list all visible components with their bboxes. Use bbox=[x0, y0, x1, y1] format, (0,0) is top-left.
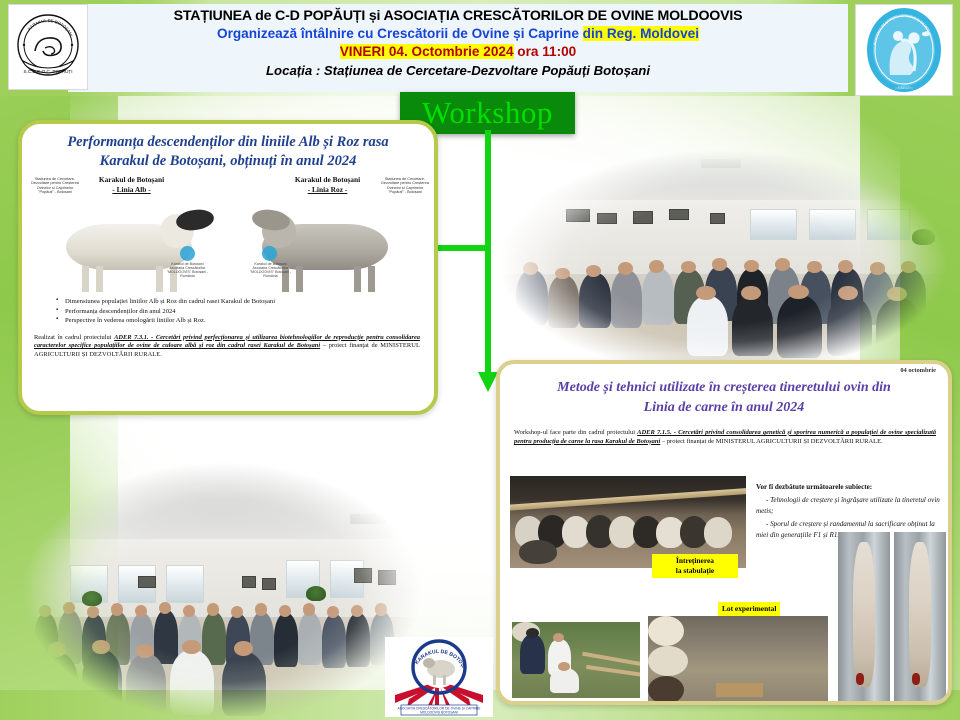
sheep-caption-roz: Karakul de Botoșani - Linia Roz - bbox=[240, 175, 415, 194]
slide-left-title: Performanța descendenților din liniile A… bbox=[22, 133, 434, 171]
scdcoc-popauti-logo: S.C.D.C.O.C. POPĂUȚI KARAKUL DE BOTOȘANI bbox=[8, 4, 88, 90]
lamb-handling-scene bbox=[512, 622, 640, 698]
slide-left-footer: Realizat în cadrul proiectului ADER 7.3.… bbox=[34, 334, 420, 360]
slide-right-paragraph: Workshop-ul face parte din cadrul proiec… bbox=[514, 428, 936, 446]
svg-text:S.C.D.C.O.C. POPĂUȚI: S.C.D.C.O.C. POPĂUȚI bbox=[23, 68, 72, 74]
poster-canvas: STAȚIUNEA de C-D POPĂUȚI și ASOCIAȚIA CR… bbox=[0, 0, 960, 720]
label-intretinerea-la-stabulatie: Întreținerea la stabulație bbox=[652, 554, 738, 578]
experimental-flock-scene bbox=[648, 616, 828, 704]
slide-left-bullet-3: Perspective în vederea omologării liniil… bbox=[56, 316, 434, 326]
conference-room-scene bbox=[498, 150, 948, 375]
header-line-2: Organizează întâlnire cu Crescătorii de … bbox=[68, 25, 848, 43]
audience-crowd-2 bbox=[22, 581, 422, 715]
arrow-down-head-icon bbox=[478, 372, 498, 392]
sheep-line-roz: - Linia Roz - bbox=[240, 185, 415, 194]
header-banner: STAȚIUNEA de C-D POPĂUȚI și ASOCIAȚIA CR… bbox=[68, 4, 848, 92]
audience-crowd bbox=[498, 231, 948, 362]
subject-item-1: - Tehnologii de creștere și îngrășare ut… bbox=[756, 495, 946, 517]
label-lot-experimental: Lot experimental bbox=[718, 602, 780, 616]
slide-card-left: Performanța descendenților din liniile A… bbox=[18, 120, 438, 415]
slide-left-bullet-1: Dimensiunea populației liniilor Alb și R… bbox=[56, 297, 434, 307]
header-line-3-post: ora 11:00 bbox=[514, 44, 577, 59]
sheep-seal-caption-roz: Karakul de Botoșani Asociația Crescători… bbox=[248, 262, 294, 278]
slide-left-title-line-1: Performanța descendenților din liniile A… bbox=[34, 133, 422, 152]
arrow-vertical-stem bbox=[485, 130, 491, 376]
sheep-image-alb: Karakul de Botoșani Asociația Crescători… bbox=[52, 198, 212, 290]
header-line-2-pre: Organizează întâlnire cu Crescătorii de … bbox=[217, 26, 583, 41]
slide-left-footer-mid: – proiect finanțat de bbox=[320, 342, 380, 349]
slide-left-sheep-row: Stațiunea de Cercetare-Dezvoltare pentru… bbox=[22, 175, 434, 295]
moldoovis-logo: KARAKUL DE BOTOȘANI ASOCIAȚIA CRESCĂTORI… bbox=[385, 637, 493, 717]
sheep-block-linia-alb: Karakul de Botoșani - Linia Alb - Karaku… bbox=[44, 175, 219, 290]
lamb-carcass-scene-2 bbox=[894, 532, 946, 704]
subjects-header: Vor fi dezbătute următoarele subiecte: bbox=[756, 482, 946, 493]
audience-photo-top-right bbox=[498, 150, 948, 375]
slide-right-title-line-1: Metode și tehnici utilizate în creșterea… bbox=[514, 378, 934, 398]
slide-right-para-mid: – proiect finanțat de bbox=[660, 438, 715, 445]
lamb-carcass-photo-1 bbox=[838, 532, 890, 704]
slide-card-right: 04 octombrie Metode și tehnici utilizate… bbox=[496, 360, 952, 705]
sheep-seal-caption-alb: Karakul de Botoșani Asociația Crescători… bbox=[165, 262, 211, 278]
workshop-badge-label: Workshop bbox=[422, 97, 553, 129]
header-line-1: STAȚIUNEA de C-D POPĂUȚI și ASOCIAȚIA CR… bbox=[68, 8, 848, 25]
asas-seal-icon: ACADEMIA DE ȘTIINȚE AGRICOLE ȘI SILVICE … bbox=[856, 5, 952, 95]
header-line-2-highlight: din Reg. Moldovei bbox=[583, 26, 699, 41]
experimental-flock-photo bbox=[648, 616, 828, 704]
slide-right-date: 04 octombrie bbox=[900, 367, 936, 374]
moldoovis-seal-icon: KARAKUL DE BOTOȘANI ASOCIAȚIA CRESCĂTORI… bbox=[385, 637, 493, 717]
label-stabulatie-line-1: Întreținerea bbox=[656, 556, 734, 566]
sheep-breed-alb: Karakul de Botoșani bbox=[99, 175, 164, 184]
asas-logo: ACADEMIA DE ȘTIINȚE AGRICOLE ȘI SILVICE … bbox=[855, 4, 953, 96]
audience-photo-bottom-left bbox=[22, 462, 422, 720]
header-line-4: Locația : Stațiunea de Cercetare-Dezvolt… bbox=[68, 61, 848, 80]
sheep-line-alb: - Linia Alb - bbox=[44, 185, 219, 194]
sheep-breed-roz: Karakul de Botoșani bbox=[295, 175, 360, 184]
slide-right-title-line-2: Linia de carne în anul 2024 bbox=[514, 398, 934, 418]
slide-left-bullet-2: Performanța descendenților din anul 2024 bbox=[56, 307, 434, 317]
slide-left-bullet-list: Dimensiunea populației liniilor Alb și R… bbox=[56, 297, 434, 326]
slide-right-para-pre: Workshop-ul face parte din cadrul proiec… bbox=[514, 429, 637, 436]
header-line-3-highlight: VINERI 04. Octombrie 2024 bbox=[340, 44, 514, 59]
sheep-image-roz: Karakul de Botoșani Asociația Crescători… bbox=[248, 198, 408, 290]
label-stabulatie-line-2: la stabulație bbox=[656, 566, 734, 576]
slide-right-para-ministry: MINISTERUL AGRICULTURII ȘI DEZVOLTĂRII R… bbox=[716, 438, 883, 445]
sheep-caption-alb: Karakul de Botoșani - Linia Alb - bbox=[44, 175, 219, 194]
conference-room-scene-2 bbox=[22, 462, 422, 720]
lamb-handling-photo bbox=[512, 622, 640, 698]
svg-text:MOLDOOVIS BOTOȘANI: MOLDOOVIS BOTOȘANI bbox=[420, 710, 458, 714]
slide-left-footer-pre: Realizat în cadrul proiectului bbox=[34, 334, 114, 341]
lamb-carcass-scene-1 bbox=[838, 532, 890, 704]
sheep-block-linia-roz: Karakul de Botoșani - Linia Roz - Karaku… bbox=[240, 175, 415, 290]
slide-left-title-line-2: Karakul de Botoșani, obținuți în anul 20… bbox=[34, 152, 422, 171]
header-line-3: VINERI 04. Octombrie 2024 ora 11:00 bbox=[68, 43, 848, 61]
svg-text:• ȘIȘEȘTI •: • ȘIȘEȘTI • bbox=[895, 86, 913, 90]
lamb-carcass-photo-2 bbox=[894, 532, 946, 704]
scdcoc-popauti-seal-icon: S.C.D.C.O.C. POPĂUȚI KARAKUL DE BOTOȘANI bbox=[9, 5, 87, 89]
slide-right-title: Metode și tehnici utilizate în creșterea… bbox=[500, 378, 948, 418]
